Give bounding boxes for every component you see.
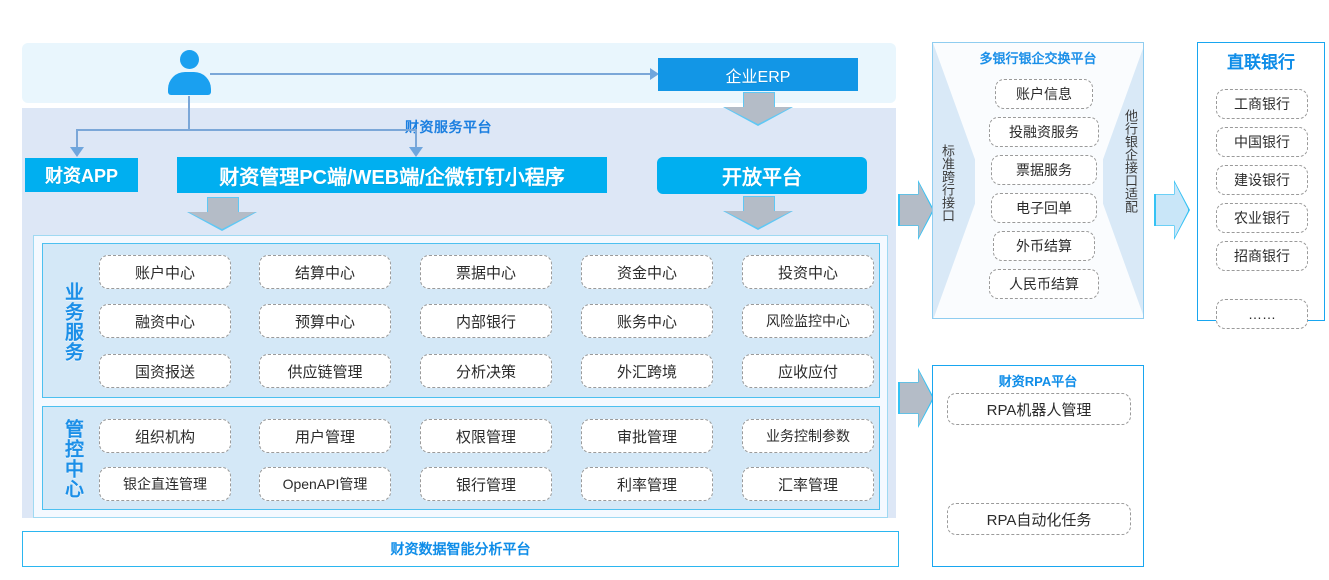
control-cell[interactable]: 审批管理	[581, 419, 713, 453]
standard-cross-bank-interface-label: 标准跨行接口	[935, 108, 955, 258]
arrow-down-erp-icon	[723, 92, 793, 126]
bank-cell[interactable]: 农业银行	[1216, 203, 1308, 233]
architecture-diagram: 企业ERP 财资服务平台 财资APP 财资管理PC端/WEB端/企微钉钉小程序 …	[0, 0, 1329, 580]
control-cell[interactable]: 业务控制参数	[742, 419, 874, 453]
arrowhead-to-pc-icon	[409, 147, 423, 157]
platform-title: 财资服务平台	[405, 117, 492, 137]
data-analysis-platform-bar[interactable]: 财资数据智能分析平台	[22, 531, 899, 567]
connector-branch-horizontal	[76, 129, 417, 131]
service-cell[interactable]: 账户中心	[99, 255, 231, 289]
direct-banks-title: 直联银行	[1197, 48, 1325, 73]
service-cell[interactable]: 票据中心	[420, 255, 552, 289]
arrowhead-to-app-icon	[70, 147, 84, 157]
control-cell[interactable]: 利率管理	[581, 467, 713, 501]
channel-pc-web-button[interactable]: 财资管理PC端/WEB端/企微钉钉小程序	[177, 157, 607, 193]
control-cell[interactable]: 用户管理	[259, 419, 391, 453]
rpa-item-cell[interactable]: RPA机器人管理	[947, 393, 1131, 425]
arrow-right-to-exchange-icon	[898, 180, 934, 240]
control-cell[interactable]: OpenAPI管理	[259, 467, 391, 501]
control-cell[interactable]: 银行管理	[420, 467, 552, 501]
connector-branch-left	[76, 129, 78, 149]
service-cell[interactable]: 供应链管理	[259, 354, 391, 388]
service-cell[interactable]: 资金中心	[581, 255, 713, 289]
exchange-platform-title: 多银行银企交换平台	[962, 48, 1114, 67]
service-cell[interactable]: 投资中心	[742, 255, 874, 289]
bank-cell[interactable]: 建设银行	[1216, 165, 1308, 195]
arrow-down-open-platform-icon	[723, 196, 793, 230]
service-cell[interactable]: 内部银行	[420, 304, 552, 338]
arrow-right-to-banks-icon	[1154, 180, 1190, 240]
exchange-service-cell[interactable]: 外币结算	[993, 231, 1095, 261]
bank-cell[interactable]: ……	[1216, 299, 1308, 329]
arrow-down-pc-channel-icon	[187, 197, 257, 231]
exchange-service-cell[interactable]: 账户信息	[995, 79, 1093, 109]
person-head-shape	[180, 50, 199, 69]
service-cell[interactable]: 应收应付	[742, 354, 874, 388]
control-cell[interactable]: 汇率管理	[742, 467, 874, 501]
channel-app-button[interactable]: 财资APP	[25, 158, 138, 192]
bank-cell[interactable]: 招商银行	[1216, 241, 1308, 271]
exchange-service-cell[interactable]: 人民币结算	[989, 269, 1099, 299]
bank-cell[interactable]: 工商银行	[1216, 89, 1308, 119]
exchange-service-cell[interactable]: 票据服务	[991, 155, 1097, 185]
connector-user-to-erp	[210, 73, 656, 75]
other-bank-interface-adapter-label: 他行银企接口适配	[1118, 84, 1138, 238]
exchange-service-cell[interactable]: 投融资服务	[989, 117, 1099, 147]
connector-branch-mid	[415, 129, 417, 149]
service-cell[interactable]: 风险监控中心	[742, 304, 874, 338]
arrow-right-to-rpa-icon	[898, 368, 934, 428]
service-cell[interactable]: 外汇跨境	[581, 354, 713, 388]
service-cell[interactable]: 国资报送	[99, 354, 231, 388]
service-cell[interactable]: 分析决策	[420, 354, 552, 388]
service-cell[interactable]: 账务中心	[581, 304, 713, 338]
rpa-item-cell[interactable]: RPA自动化任务	[947, 503, 1131, 535]
exchange-service-cell[interactable]: 电子回单	[991, 193, 1097, 223]
enterprise-erp-box[interactable]: 企业ERP	[658, 58, 858, 91]
control-cell[interactable]: 银企直连管理	[99, 467, 231, 501]
control-center-label: 管控中心	[56, 418, 82, 500]
service-cell[interactable]: 结算中心	[259, 255, 391, 289]
control-cell[interactable]: 组织机构	[99, 419, 231, 453]
control-cell[interactable]: 权限管理	[420, 419, 552, 453]
rpa-platform-title: 财资RPA平台	[932, 371, 1144, 390]
business-services-label: 业务服务	[56, 262, 82, 382]
service-cell[interactable]: 预算中心	[259, 304, 391, 338]
service-cell[interactable]: 融资中心	[99, 304, 231, 338]
bank-cell[interactable]: 中国银行	[1216, 127, 1308, 157]
person-body-shape	[168, 72, 211, 95]
connector-user-down	[188, 96, 190, 130]
channel-open-platform-button[interactable]: 开放平台	[657, 157, 867, 194]
user-person-icon	[168, 50, 210, 96]
